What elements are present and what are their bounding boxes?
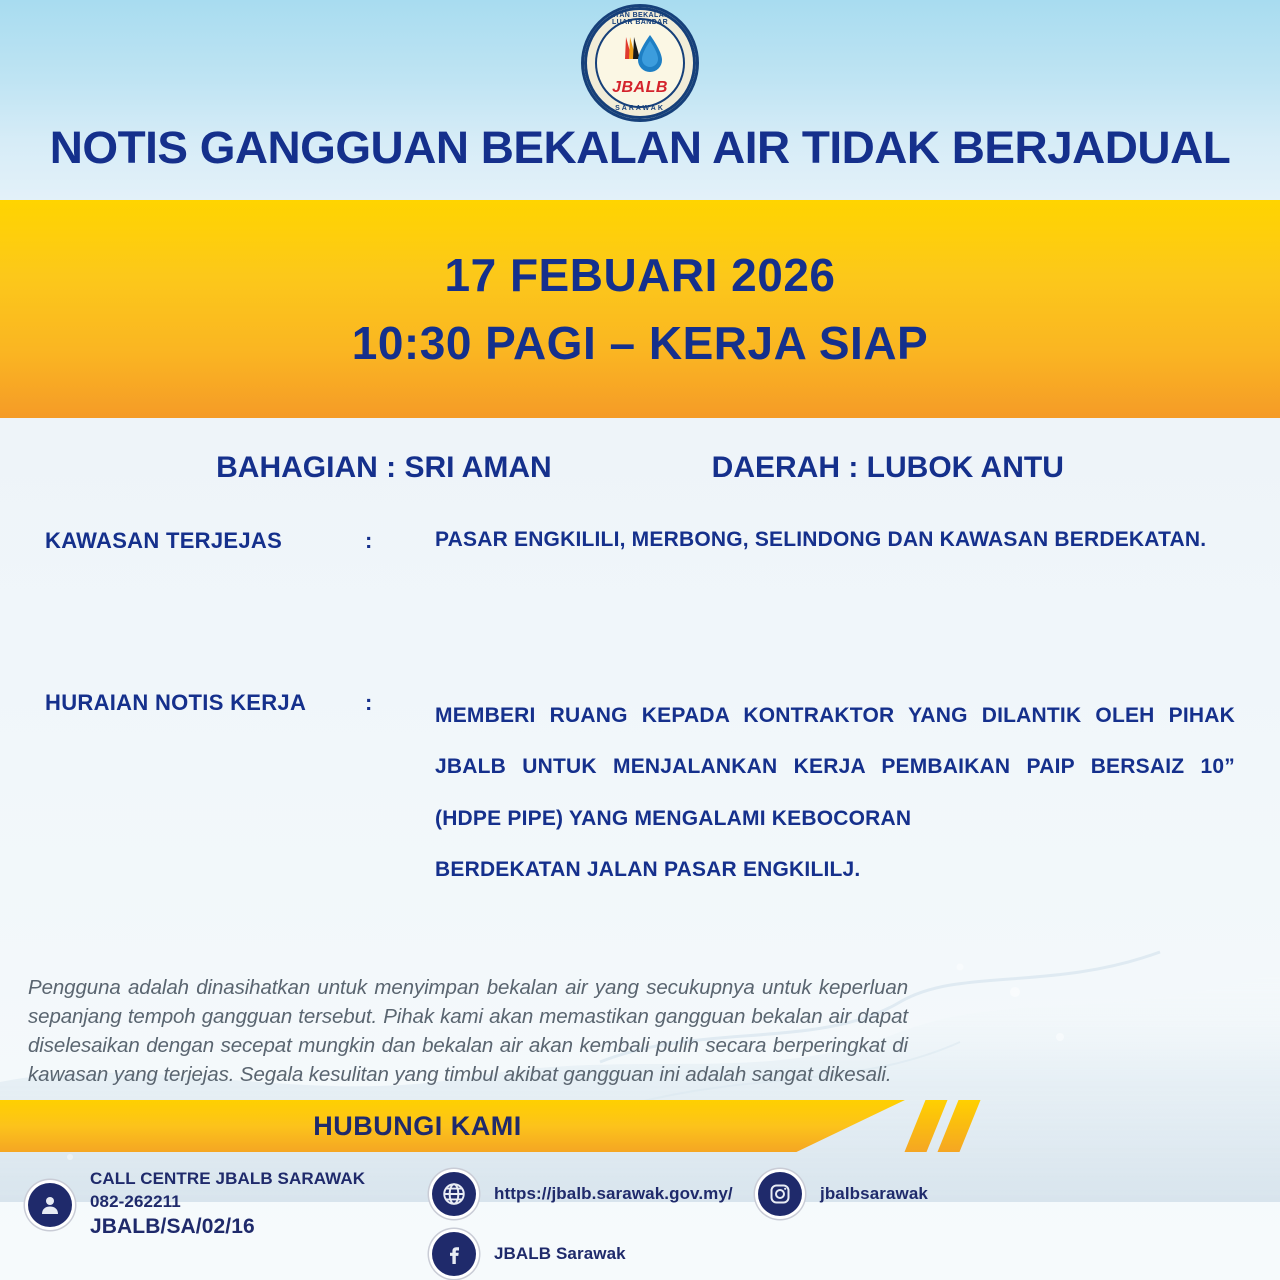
call-centre-phone: 082-262211	[90, 1191, 365, 1214]
division-label: BAHAGIAN : SRI AMAN	[216, 451, 552, 485]
affected-area-value: PASAR ENGKILILI, MERBONG, SELINDONG DAN …	[435, 528, 1206, 554]
facebook-item[interactable]: JBALB Sarawak	[432, 1232, 626, 1276]
poster-footer: CALL CENTRE JBALB SARAWAK 082-262211 JBA…	[0, 1160, 1280, 1280]
website-url[interactable]: https://jbalb.sarawak.gov.my/	[494, 1183, 733, 1206]
instagram-icon	[758, 1172, 802, 1216]
instagram-handle[interactable]: jbalbsarawak	[820, 1183, 928, 1206]
instagram-item[interactable]: jbalbsarawak	[758, 1172, 928, 1216]
work-notice-value-wrap: MEMBERI RUANG KEPADA KONTRAKTOR YANG DIL…	[435, 690, 1235, 896]
work-notice-colon: :	[365, 690, 435, 896]
work-notice-field: HURAIAN NOTIS KERJA : MEMBERI RUANG KEPA…	[45, 690, 1255, 896]
affected-area-label: KAWASAN TERJEJAS	[45, 528, 365, 554]
disruption-time: 10:30 PAGI – KERJA SIAP	[352, 316, 928, 370]
globe-icon	[432, 1172, 476, 1216]
affected-area-colon: :	[365, 528, 435, 554]
work-notice-label: HURAIAN NOTIS KERJA	[45, 690, 365, 896]
facebook-icon	[432, 1232, 476, 1276]
affected-area-field: KAWASAN TERJEJAS : PASAR ENGKILILI, MERB…	[45, 528, 1245, 554]
logo-text-sarawak: SARAWAK	[584, 105, 696, 112]
contact-us-label: HUBUNGI KAMI	[313, 1111, 522, 1142]
notice-reference: JBALB/SA/02/16	[90, 1213, 365, 1241]
work-notice-value-last: BERDEKATAN JALAN PASAR ENGKILILJ.	[435, 844, 1235, 895]
jbalb-logo: JABATAN BEKALAN AIR LUAR BANDAR JBALB SA…	[581, 4, 699, 122]
call-centre-name: CALL CENTRE JBALB SARAWAK	[90, 1168, 365, 1191]
work-notice-value: MEMBERI RUANG KEPADA KONTRAKTOR YANG DIL…	[435, 704, 1235, 830]
region-row: BAHAGIAN : SRI AMAN DAERAH : LUBOK ANTU	[0, 451, 1280, 485]
poster-header: JABATAN BEKALAN AIR LUAR BANDAR JBALB SA…	[0, 0, 1280, 200]
disruption-date: 17 FEBUARI 2026	[445, 248, 836, 302]
facebook-handle[interactable]: JBALB Sarawak	[494, 1243, 626, 1266]
contact-us-bar: HUBUNGI KAMI	[0, 1100, 905, 1152]
advisory-text: Pengguna adalah dinasihatkan untuk menyi…	[28, 973, 908, 1089]
notice-poster: JABATAN BEKALAN AIR LUAR BANDAR JBALB SA…	[0, 0, 1280, 1280]
website-item[interactable]: https://jbalb.sarawak.gov.my/	[432, 1172, 733, 1216]
call-centre-item: CALL CENTRE JBALB SARAWAK 082-262211 JBA…	[28, 1168, 365, 1241]
district-label: DAERAH : LUBOK ANTU	[712, 451, 1064, 485]
page-title: NOTIS GANGGUAN BEKALAN AIR TIDAK BERJADU…	[0, 122, 1280, 174]
logo-text-top: JABATAN BEKALAN AIR LUAR BANDAR	[584, 12, 696, 26]
person-icon	[28, 1183, 72, 1227]
date-banner: 17 FEBUARI 2026 10:30 PAGI – KERJA SIAP	[0, 200, 1280, 418]
logo-text-jbalb: JBALB	[584, 79, 696, 97]
logo-drop-icon	[612, 33, 668, 79]
